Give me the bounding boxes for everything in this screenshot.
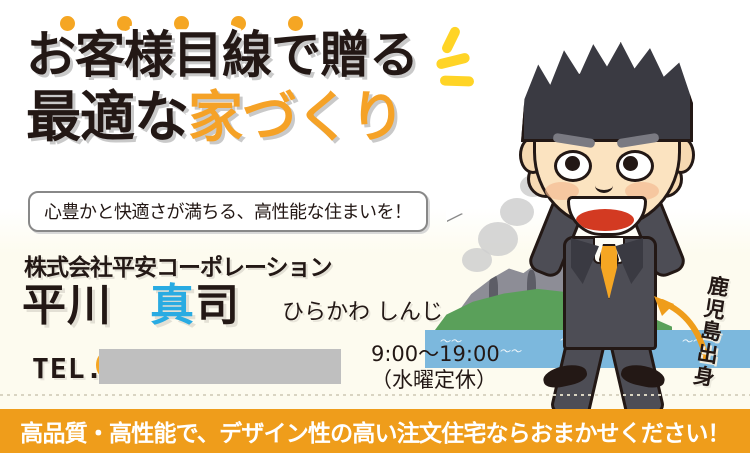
tongue xyxy=(576,209,634,231)
speech-bubble-tail xyxy=(446,205,462,221)
mouth xyxy=(567,196,647,236)
person-surname: 平川 xyxy=(22,284,112,328)
person-furigana: ひらかわ しんじ xyxy=(282,294,443,326)
headline-line-2-accent: 家づくり xyxy=(188,85,404,149)
person-name: 平川 真 司 xyxy=(22,284,240,328)
hours-range: 9:00〜19:00 xyxy=(371,341,500,367)
hair xyxy=(521,40,693,142)
divider-dotted xyxy=(0,394,750,396)
company-name: 株式会社平安コーポレーション xyxy=(24,248,332,282)
person-given-first: 真 xyxy=(150,284,195,328)
tel-number-redaction xyxy=(99,349,341,384)
business-hours: 9:00〜19:00 （水曜定休） xyxy=(371,341,500,394)
tel-label: TEL. xyxy=(32,352,103,385)
footer-text: 高品質・高性能で、デザイン性の高い注文住宅ならおまかせください！ xyxy=(20,414,729,448)
tagline-text: 心豊かと快適さが満ちる、高性能な住まいを！ xyxy=(44,202,412,223)
footer-banner: 高品質・高性能で、デザイン性の高い注文住宅ならおまかせください！ xyxy=(0,409,750,453)
pupil-right xyxy=(623,156,638,171)
closed-day: （水曜定休） xyxy=(371,367,500,393)
tagline-speech-bubble: 心豊かと快適さが満ちる、高性能な住まいを！ xyxy=(28,191,428,232)
pupil-left xyxy=(565,156,580,171)
business-card-advertisement: 〜〜 〜〜 〜〜 〜〜 〜〜 xyxy=(0,0,750,453)
headline-line-2-plain: 最適な xyxy=(26,85,188,149)
headline: お客様目線で贈る 最適な家づくり xyxy=(26,30,466,145)
headline-line-2: 最適な家づくり xyxy=(26,90,466,145)
headline-line-1: お客様目線で贈る xyxy=(26,30,466,80)
person-given-second: 司 xyxy=(195,284,240,328)
nose xyxy=(595,178,613,193)
